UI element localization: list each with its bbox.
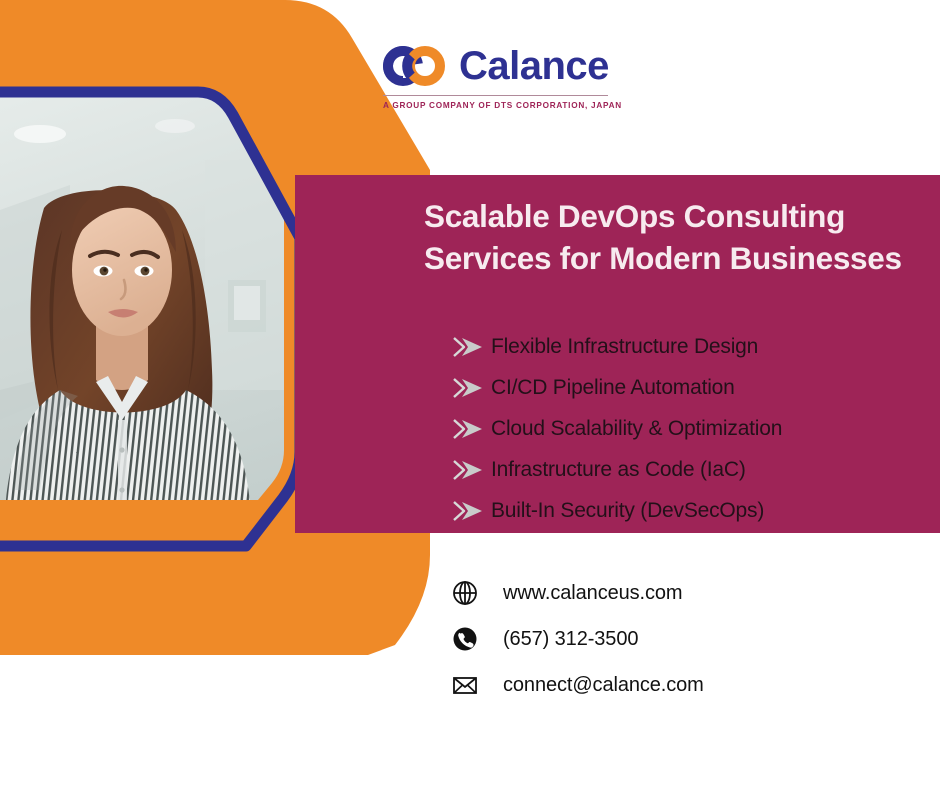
feature-label: CI/CD Pipeline Automation	[491, 376, 735, 400]
list-item: Cloud Scalability & Optimization	[452, 408, 922, 449]
double-chevron-icon	[452, 459, 486, 481]
list-item: Built-In Security (DevSecOps)	[452, 490, 922, 531]
brand-logo[interactable]: Calance A GROUP COMPANY OF DTS CORPORATI…	[383, 40, 608, 112]
contact-website[interactable]: www.calanceus.com	[452, 570, 872, 616]
page-title: Scalable DevOps Consulting Services for …	[424, 196, 940, 279]
brand-tagline: A GROUP COMPANY OF DTS CORPORATION, JAPA…	[383, 101, 608, 110]
brand-wordmark: Calance	[459, 46, 609, 86]
double-chevron-icon	[452, 418, 486, 440]
contact-list: www.calanceus.com (657) 312-3500 connect…	[452, 570, 872, 708]
email-address: connect@calance.com	[503, 674, 704, 697]
feature-label: Infrastructure as Code (IaC)	[491, 458, 746, 482]
double-chevron-icon	[452, 500, 486, 522]
feature-list: Flexible Infrastructure Design CI/CD Pip…	[452, 326, 922, 531]
list-item: Infrastructure as Code (IaC)	[452, 449, 922, 490]
marketing-banner: Calance A GROUP COMPANY OF DTS CORPORATI…	[0, 0, 940, 788]
feature-label: Built-In Security (DevSecOps)	[491, 499, 764, 523]
double-chevron-icon	[452, 336, 486, 358]
feature-label: Flexible Infrastructure Design	[491, 335, 758, 359]
headline-line-1: Scalable DevOps Consulting	[424, 196, 940, 238]
double-chevron-icon	[452, 377, 486, 399]
contact-phone[interactable]: (657) 312-3500	[452, 616, 872, 662]
logo-divider	[383, 95, 608, 96]
list-item: Flexible Infrastructure Design	[452, 326, 922, 367]
globe-icon	[452, 580, 478, 606]
website-url: www.calanceus.com	[503, 582, 682, 605]
headline-line-2: Services for Modern Businesses	[424, 238, 940, 280]
phone-icon	[452, 626, 478, 652]
phone-number: (657) 312-3500	[503, 628, 638, 651]
list-item: CI/CD Pipeline Automation	[452, 367, 922, 408]
feature-label: Cloud Scalability & Optimization	[491, 417, 782, 441]
interlocking-rings-logo-icon	[383, 46, 449, 86]
contact-email[interactable]: connect@calance.com	[452, 662, 872, 708]
envelope-icon	[452, 672, 478, 698]
